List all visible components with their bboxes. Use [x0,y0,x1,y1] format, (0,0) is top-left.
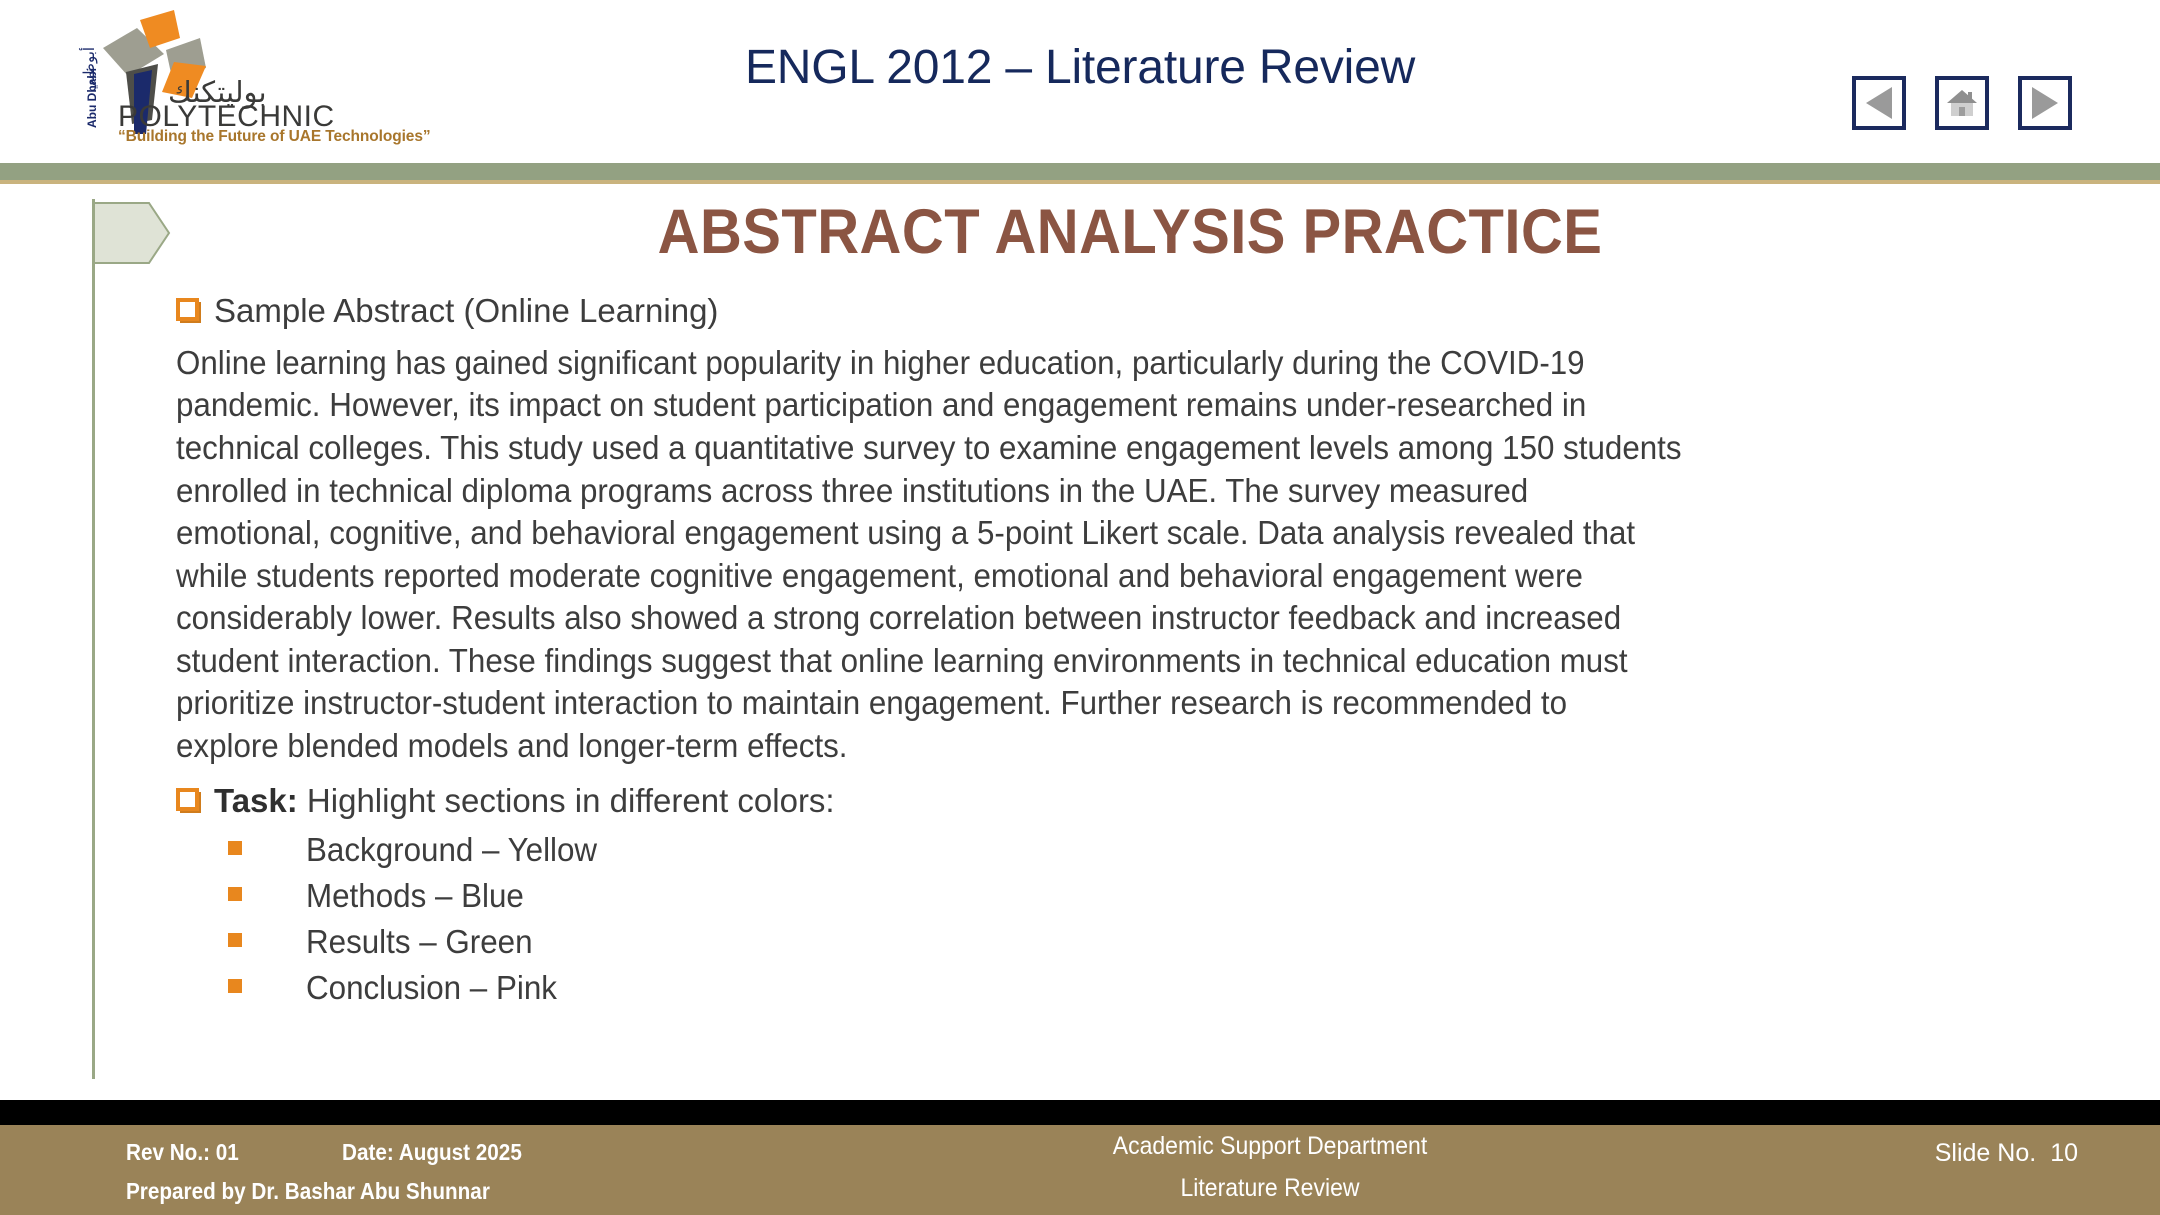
slide-footer: Rev No.: 01 Date: August 2025 Prepared b… [0,1125,2160,1215]
footer-subtitle: Literature Review [948,1174,1592,1203]
logo-tagline: “Building the Future of UAE Technologies… [118,128,431,146]
list-item-label: Methods – Blue [306,873,524,919]
slide-number-label: Slide No. [1935,1139,2036,1167]
footer-department: Academic Support Department [948,1132,1592,1161]
list-item: Conclusion – Pink [176,965,2056,1011]
task-line: Task: Highlight sections in different co… [214,782,835,819]
home-button[interactable] [1935,76,1989,130]
abstract-line: while students reported moderate cogniti… [176,556,1934,599]
abstract-line: explore blended models and longer-term e… [176,726,1934,769]
footer-revision: Rev No.: 01 [126,1139,239,1166]
slide-canvas: أبوظبي Abu Dhabi بوليتكنك POLYTECHNIC “B… [0,0,2160,1215]
bullet-label: Sample Abstract (Online Learning) [214,292,718,329]
footer-prepared-by: Prepared by Dr. Bashar Abu Shunnar [126,1178,490,1205]
slide-body: ABSTRACT ANALYSIS PRACTICE Sample Abstra… [0,184,2160,1100]
task-text: Highlight sections in different colors: [298,782,835,819]
page-title: ABSTRACT ANALYSIS PRACTICE [256,196,2004,268]
square-filled-bullet-icon [228,979,242,993]
footer-date: Date: August 2025 [342,1139,522,1166]
previous-arrow-icon [1859,83,1899,123]
course-title: ENGL 2012 – Literature Review [0,40,2160,95]
list-item: Results – Green [176,919,2056,965]
abstract-line: emotional, cognitive, and behavioral eng… [176,513,1934,556]
square-filled-bullet-icon [228,887,242,901]
footer-slide-number: Slide No.10 [1935,1139,2078,1168]
next-slide-button[interactable] [2018,76,2072,130]
list-item-label: Conclusion – Pink [306,965,557,1011]
abstract-line: technical colleges. This study used a qu… [176,428,1934,471]
header-divider-green [0,163,2160,180]
abstract-line: considerably lower. Results also showed … [176,598,1934,641]
flag-banner-icon [93,201,173,265]
abstract-line: pandemic. However, its impact on student… [176,385,1934,428]
abstract-line: student interaction. These findings sugg… [176,641,1934,684]
footer-black-divider [0,1100,2160,1125]
list-item: Methods – Blue [176,873,2056,919]
list-item: Background – Yellow [176,827,2056,873]
square-outline-bullet-icon [176,788,199,811]
navigation-buttons [1852,76,2072,130]
abstract-line: Online learning has gained significant p… [176,343,1934,386]
abstract-line: prioritize instructor-student interactio… [176,683,1934,726]
abstract-paragraph: Online learning has gained significant p… [176,343,2056,768]
list-item-label: Background – Yellow [306,827,597,873]
abstract-line: enrolled in technical diploma programs a… [176,471,1934,514]
bullet-task: Task: Highlight sections in different co… [176,782,2056,821]
body-content: Sample Abstract (Online Learning) Online… [176,292,2056,1011]
task-label: Task: [214,782,298,819]
previous-slide-button[interactable] [1852,76,1906,130]
list-item-label: Results – Green [306,919,533,965]
square-filled-bullet-icon [228,841,242,855]
square-outline-bullet-icon [176,298,199,321]
flag-pole-decoration [92,199,95,1079]
slide-header: أبوظبي Abu Dhabi بوليتكنك POLYTECHNIC “B… [0,0,2160,163]
home-icon [1942,83,1982,123]
slide-number-value: 10 [2050,1139,2078,1167]
bullet-sample-abstract: Sample Abstract (Online Learning) [176,292,2056,331]
task-item-list: Background – Yellow Methods – Blue Resul… [176,827,2056,1011]
next-arrow-icon [2025,83,2065,123]
square-filled-bullet-icon [228,933,242,947]
